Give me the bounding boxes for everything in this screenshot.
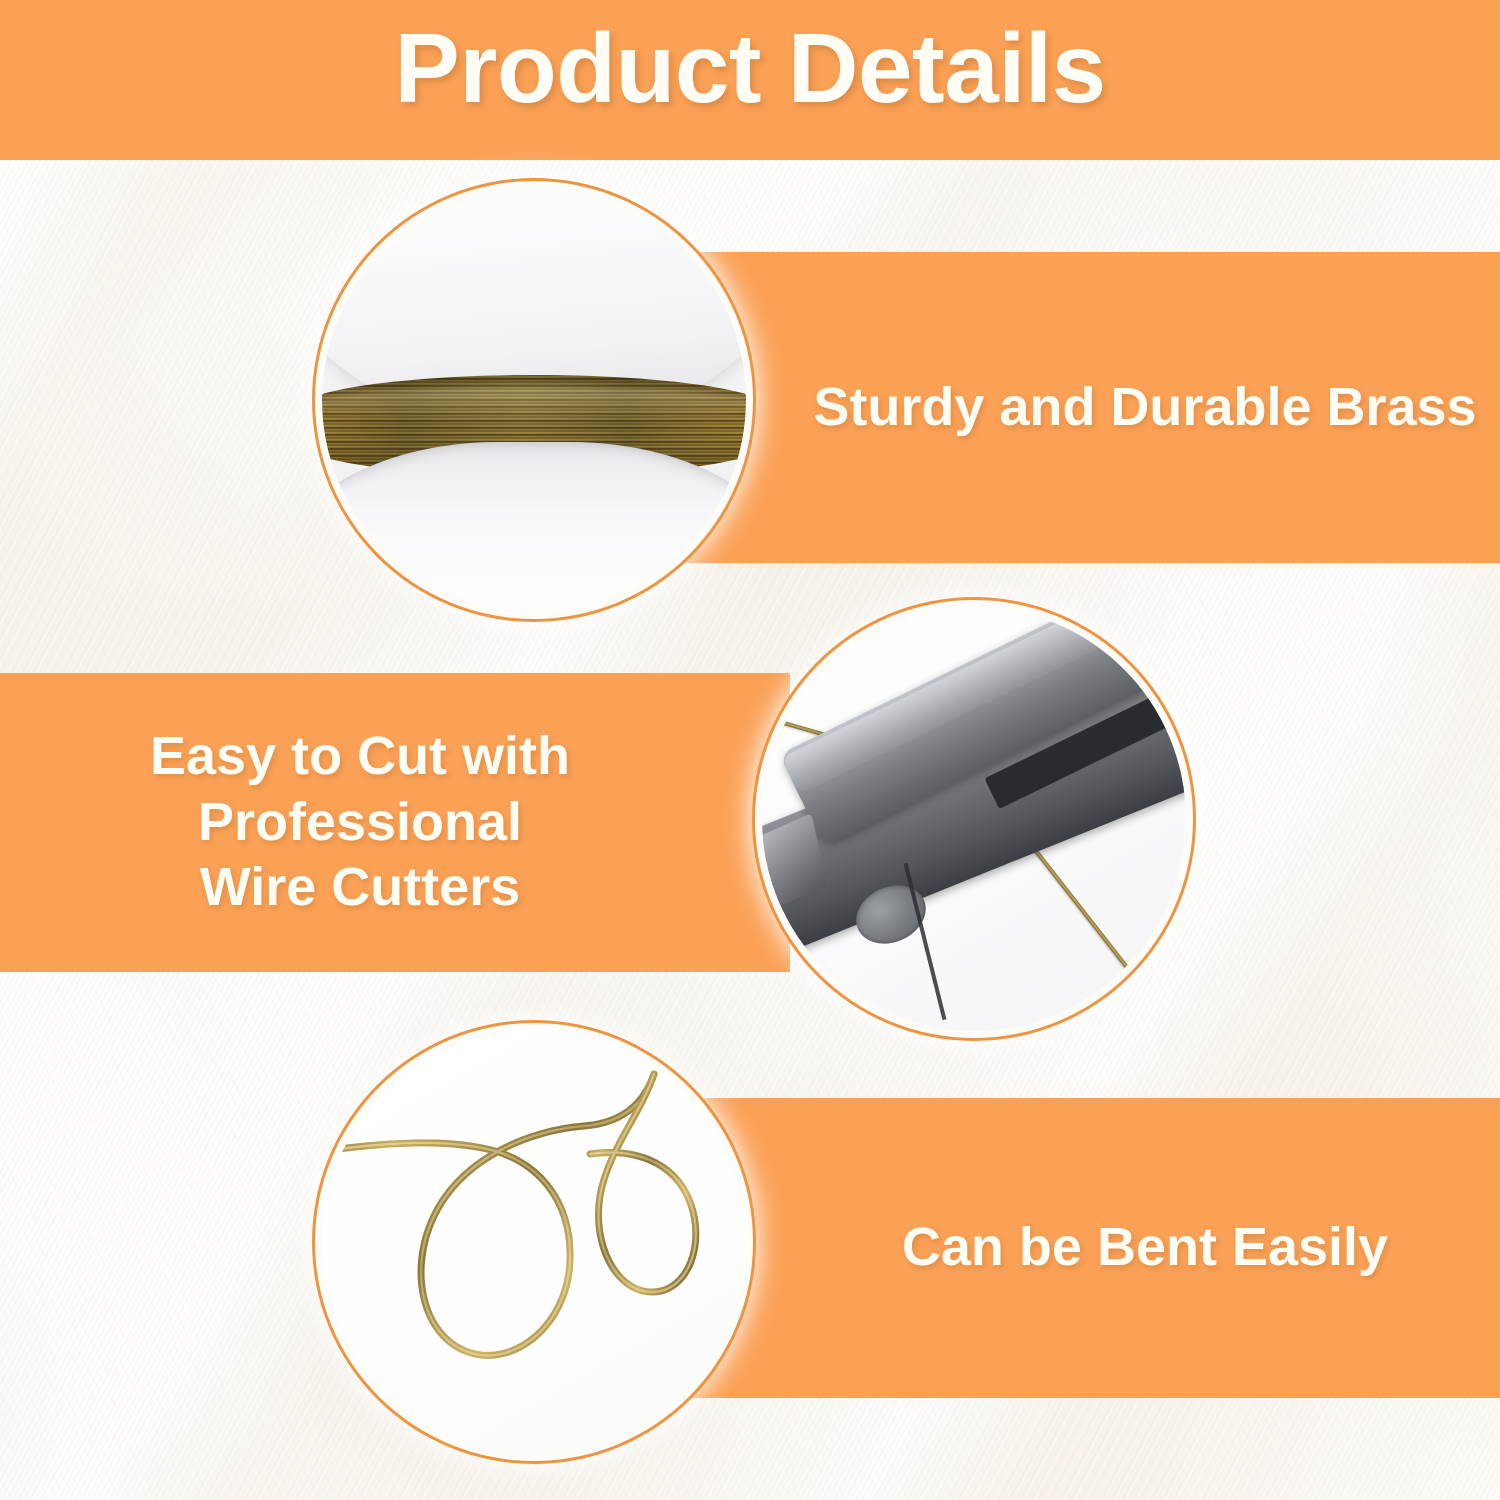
brass-wire-spool-photo (322, 188, 746, 612)
wire-loop-left-highlight (330, 1074, 654, 1355)
feature-label-cut-line1: Easy to Cut with Professional (0, 724, 720, 856)
feature-bar-brass: Sturdy and Durable Brass (640, 252, 1500, 563)
product-details-infographic: Product Details Sturdy and Durable Brass… (0, 0, 1500, 1500)
feature-label-cut: Easy to Cut with Professional Wire Cutte… (0, 724, 790, 922)
bent-brass-wire-loops-photo-inner (322, 1030, 746, 1454)
feature-bar-cut: Easy to Cut with Professional Wire Cutte… (0, 673, 790, 972)
brass-wire-spool-photo-inner (322, 188, 746, 612)
feature-bar-bend: Can be Bent Easily (640, 1098, 1500, 1398)
bent-wire-drawing (322, 1030, 746, 1454)
bent-brass-wire-loops-photo (322, 1030, 746, 1454)
page-title: Product Details (0, 12, 1500, 125)
feature-label-brass: Sturdy and Durable Brass (663, 375, 1476, 441)
brass-wire-highlight (322, 387, 746, 421)
wire-loop-left (330, 1074, 654, 1355)
feature-label-bend: Can be Bent Easily (752, 1215, 1388, 1281)
feature-label-cut-line2: Wire Cutters (0, 855, 720, 921)
spool-bottom-flange (322, 442, 746, 612)
wire-cutter-jaws-photo (762, 607, 1186, 1031)
wire-cutter-jaws-photo-inner (762, 607, 1186, 1031)
